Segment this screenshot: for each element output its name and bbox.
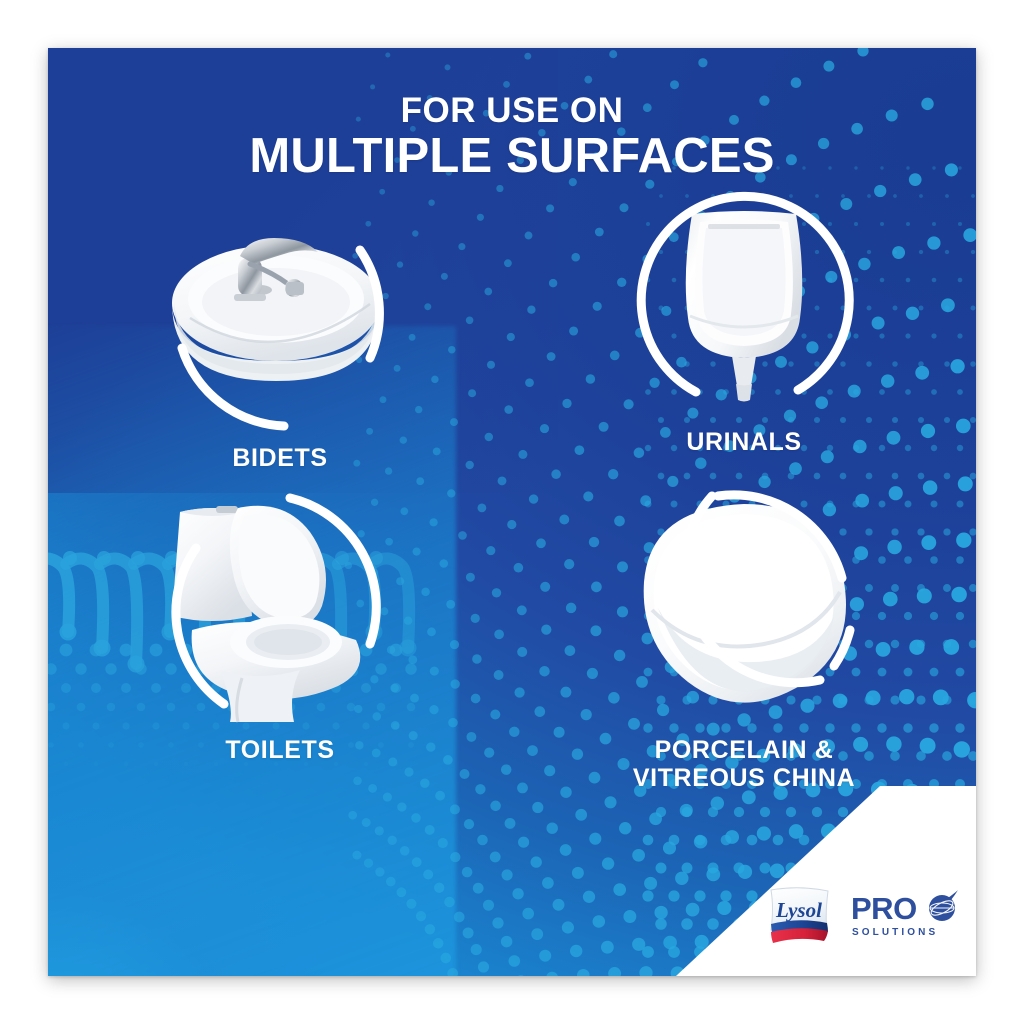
pro-solutions-logo: PRO SOLUTIONS xyxy=(850,889,960,941)
headline-line-2: MULTIPLE SURFACES xyxy=(48,131,976,183)
tile-row-1: BIDETS xyxy=(48,198,976,472)
tile-row-2: TOILETS xyxy=(48,472,976,792)
poster-page: FOR USE ON MULTIPLE SURFACES xyxy=(0,0,1024,1024)
tile-toilets: TOILETS xyxy=(48,490,512,792)
toilet-photo xyxy=(164,490,396,722)
page-title: FOR USE ON MULTIPLE SURFACES xyxy=(48,92,976,183)
surface-tiles: BIDETS xyxy=(48,198,976,792)
tile-caption-bidets: BIDETS xyxy=(232,444,327,472)
porcelain-basin-photo xyxy=(628,490,860,722)
solutions-text: SOLUTIONS xyxy=(852,927,938,938)
tile-bidets: BIDETS xyxy=(48,198,512,472)
tile-caption-porcelain-line-1: PORCELAIN & xyxy=(633,736,855,764)
lysol-wordmark-text: Lysol xyxy=(775,898,822,922)
brand-logos: Lysol PRO SOLUTIONS xyxy=(762,884,960,946)
urinal-photo xyxy=(636,198,852,414)
brand-corner: Lysol PRO SOLUTIONS xyxy=(676,786,976,976)
lysol-logo: Lysol xyxy=(762,884,836,946)
headline-line-1: FOR USE ON xyxy=(48,92,976,129)
tile-caption-porcelain: PORCELAIN & VITREOUS CHINA xyxy=(633,736,855,792)
tile-caption-toilets: TOILETS xyxy=(225,736,334,764)
bidet-photo xyxy=(164,198,396,430)
tile-urinals: URINALS xyxy=(512,198,976,472)
poster-canvas: FOR USE ON MULTIPLE SURFACES xyxy=(48,48,976,976)
white-diagonal-wedge xyxy=(676,786,976,976)
pro-text: PRO xyxy=(851,891,917,926)
tile-caption-urinals: URINALS xyxy=(686,428,801,456)
tile-porcelain: PORCELAIN & VITREOUS CHINA xyxy=(512,490,976,792)
